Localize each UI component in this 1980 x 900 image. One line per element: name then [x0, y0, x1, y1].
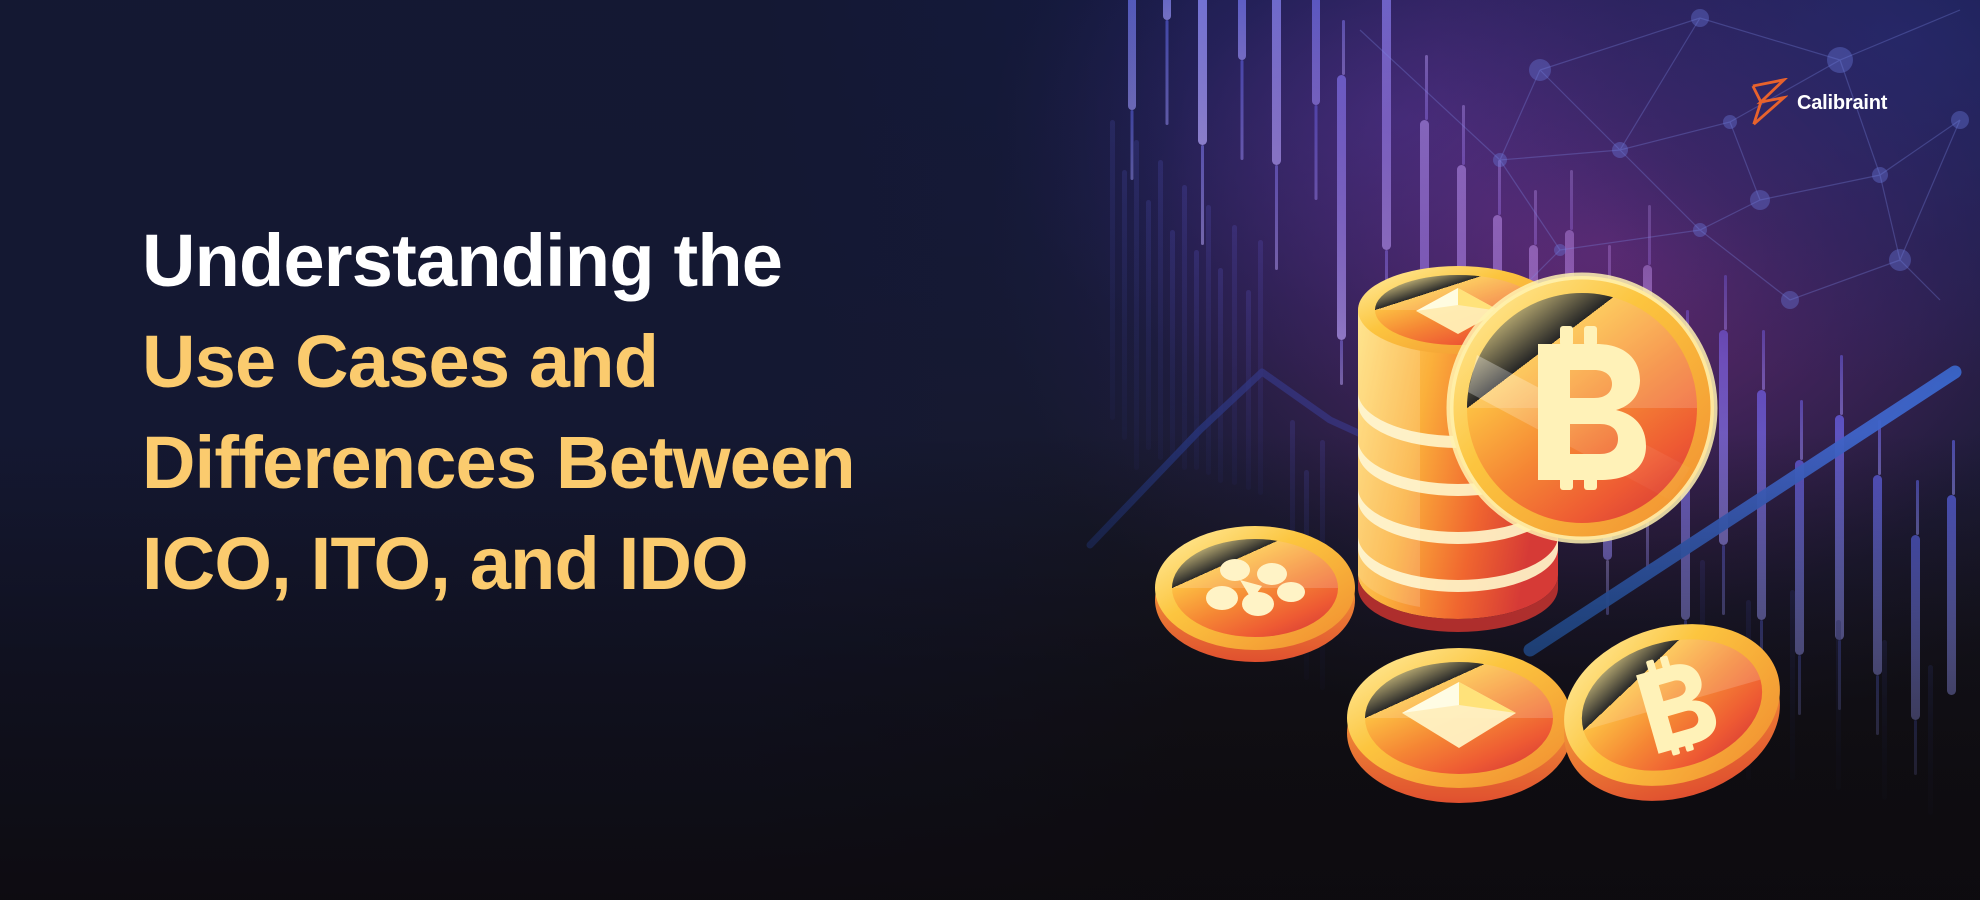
headline-line-3: Differences Between — [142, 412, 1222, 513]
hero-banner: Understanding the Use Cases and Differen… — [0, 0, 1980, 900]
calibraint-lightning-z-icon — [1748, 78, 1788, 126]
brand-logo-text: Calibraint — [1797, 91, 1887, 113]
page-title: Understanding the Use Cases and Differen… — [142, 210, 1222, 614]
headline-line-2: Use Cases and — [142, 311, 1222, 412]
brand-logo[interactable]: Calibraint — [1748, 78, 1887, 126]
headline-line-1: Understanding the — [142, 210, 1222, 311]
headline-line-4: ICO, ITO, and IDO — [142, 513, 1222, 614]
